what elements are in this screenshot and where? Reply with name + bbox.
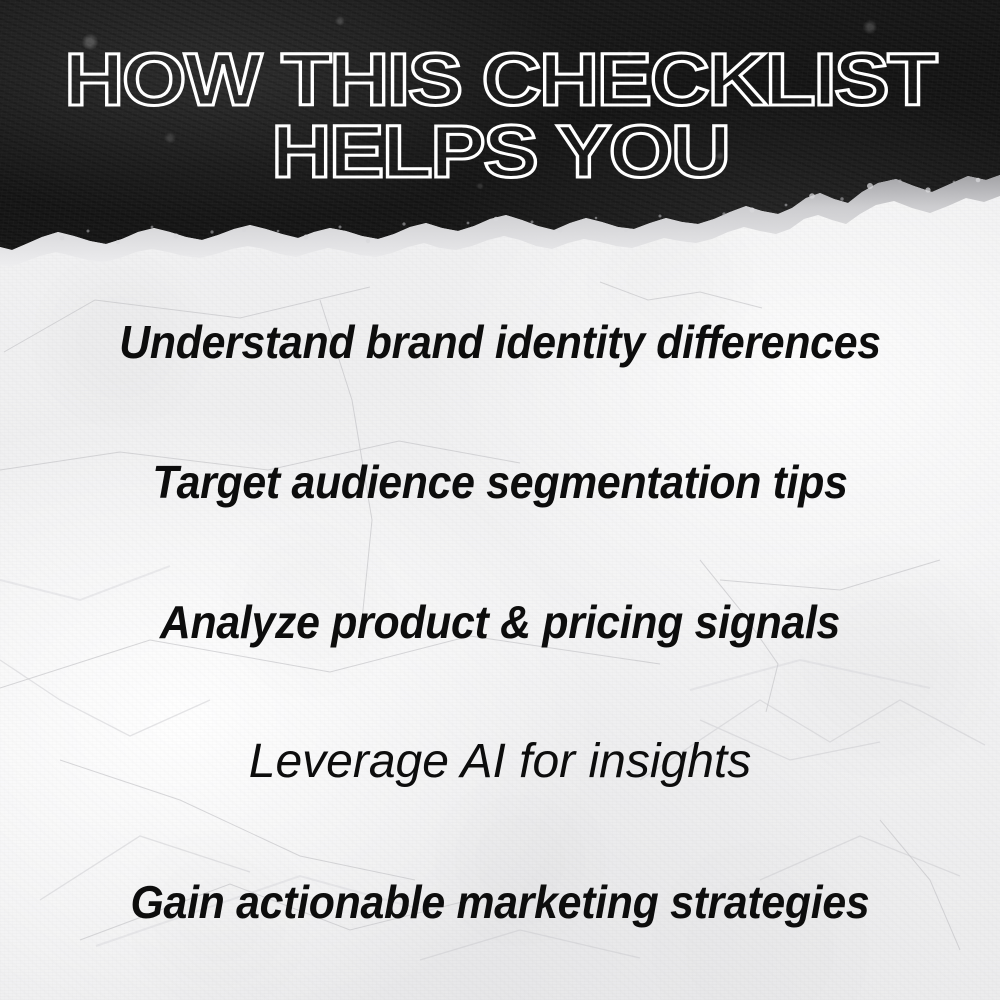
list-item: Target audience segmentation tips [35, 412, 965, 552]
list-item: Understand brand identity differences [35, 272, 965, 412]
poster-canvas: HOW THIS CHECKLIST HELPS YOU Understand … [0, 0, 1000, 1000]
page-title-line-1: HOW THIS CHECKLIST [0, 46, 1000, 114]
page-title-line-2: HELPS YOU [0, 118, 1000, 186]
list-item: Analyze product & pricing signals [35, 552, 965, 692]
page-title: HOW THIS CHECKLIST HELPS YOU [0, 46, 1000, 186]
list-item: Leverage AI for insights [0, 692, 1000, 832]
list-item: Gain actionable marketing strategies [35, 832, 965, 972]
benefits-list: Understand brand identity differences Ta… [0, 272, 1000, 972]
